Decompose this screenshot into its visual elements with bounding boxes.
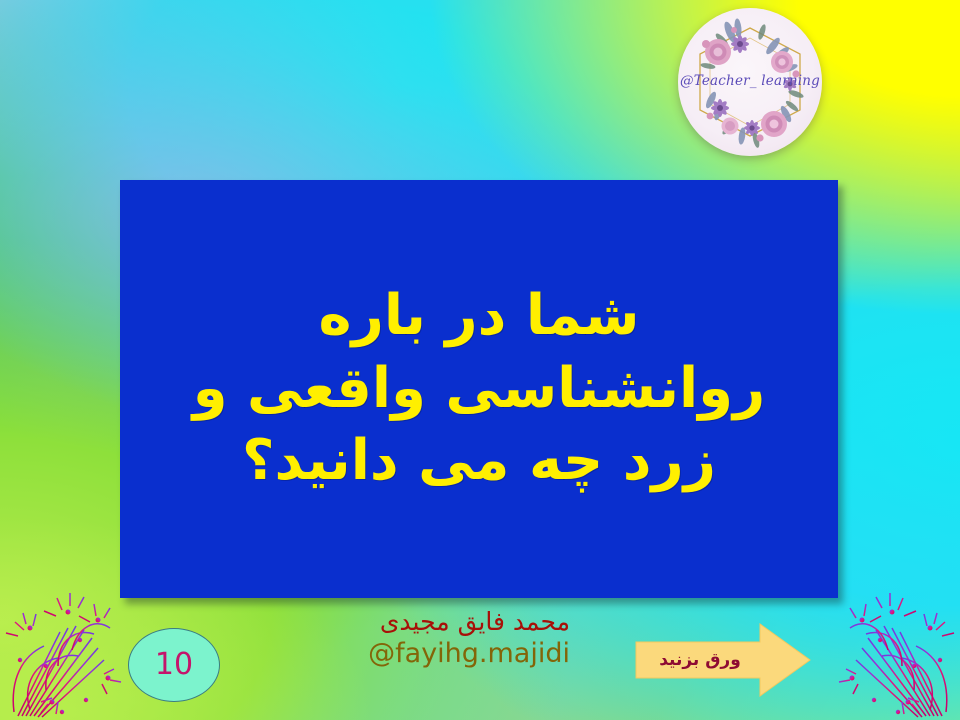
author-name: محمد فایق مجیدی bbox=[330, 608, 570, 636]
author-credit: محمد فایق مجیدی @fayihg.majidi bbox=[330, 608, 570, 670]
question-panel: شما در باره روانشناسی واقعی و زرد چه می … bbox=[120, 180, 838, 598]
firework-left-decoration bbox=[0, 570, 140, 720]
page-number-badge: 10 bbox=[128, 628, 220, 702]
firework-right-decoration bbox=[820, 570, 960, 720]
question-text: شما در باره روانشناسی واقعی و زرد چه می … bbox=[120, 280, 838, 498]
firework-burst-icon bbox=[820, 570, 960, 720]
brand-logo-badge[interactable]: @Teacher_ learning bbox=[678, 8, 822, 156]
page-number-value: 10 bbox=[155, 650, 193, 680]
logo-handle-text: @Teacher_ learning bbox=[678, 73, 822, 89]
next-page-arrow-label: ورق بزنید bbox=[644, 650, 756, 670]
author-handle[interactable]: @fayihg.majidi bbox=[330, 638, 570, 670]
slide-canvas: @Teacher_ learning شما در باره روانشناسی… bbox=[0, 0, 960, 720]
firework-burst-icon bbox=[0, 570, 140, 720]
next-page-arrow-button[interactable]: ورق بزنید bbox=[634, 622, 812, 698]
